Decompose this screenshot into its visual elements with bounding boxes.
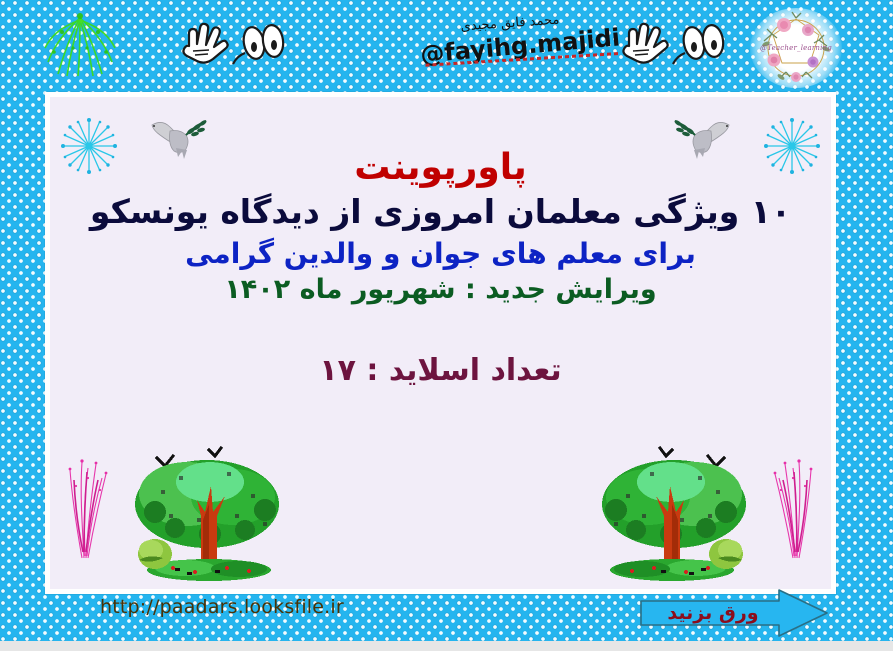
slide-line-edition: ویرایش جدید : شهریور ماه ۱۴۰۲: [50, 275, 831, 304]
footer-url[interactable]: http://paadars.looksfile.ir: [100, 596, 344, 618]
teacher-learning-logo: @Teacher_learning: [750, 8, 842, 88]
slide-line-slide-count: تعداد اسلاید : ۱۷: [50, 353, 831, 388]
slide-frame: پاورپوینت ۱۰ ویژگی معلمان امروزی از دیدگ…: [45, 92, 836, 594]
slide-canvas: پاورپوینت ۱۰ ویژگی معلمان امروزی از دیدگ…: [50, 97, 831, 589]
cartoon-eyes-icon: [681, 24, 725, 61]
hand-eyes-decoration-left: [175, 16, 287, 78]
slide-line-audience: برای معلم های جوان و والدین گرامی: [50, 239, 831, 269]
logo-label: @Teacher_learning: [750, 44, 842, 52]
slide-line-title: ۱۰ ویژگی معلمان امروزی از دیدگاه یونسکو: [50, 194, 831, 230]
pointing-hand-icon: [623, 24, 667, 63]
tree-illustration-left: [115, 442, 305, 587]
author-handle-block: محمد فایق مجیدی @fayihg.majidi: [420, 16, 600, 82]
next-page-arrow-button[interactable]: ورق بزنید: [639, 588, 829, 638]
pointing-hand-icon: [183, 24, 227, 63]
slide-line-powerpoint: پاورپوینت: [50, 149, 831, 188]
magenta-firework-icon-right: [769, 452, 817, 562]
green-firework-icon: [40, 8, 120, 80]
tree-illustration-right: [576, 442, 766, 587]
cartoon-eyes-icon: [241, 24, 285, 61]
slide-text-block: پاورپوینت ۱۰ ویژگی معلمان امروزی از دیدگ…: [50, 149, 831, 304]
hand-eyes-decoration-right: [615, 16, 727, 78]
header-band: محمد فایق مجیدی @fayihg.majidi: [0, 0, 893, 92]
next-page-arrow-label: ورق بزنید: [649, 602, 777, 624]
bottom-gray-strip: [0, 641, 893, 651]
magenta-firework-icon-left: [64, 452, 112, 562]
